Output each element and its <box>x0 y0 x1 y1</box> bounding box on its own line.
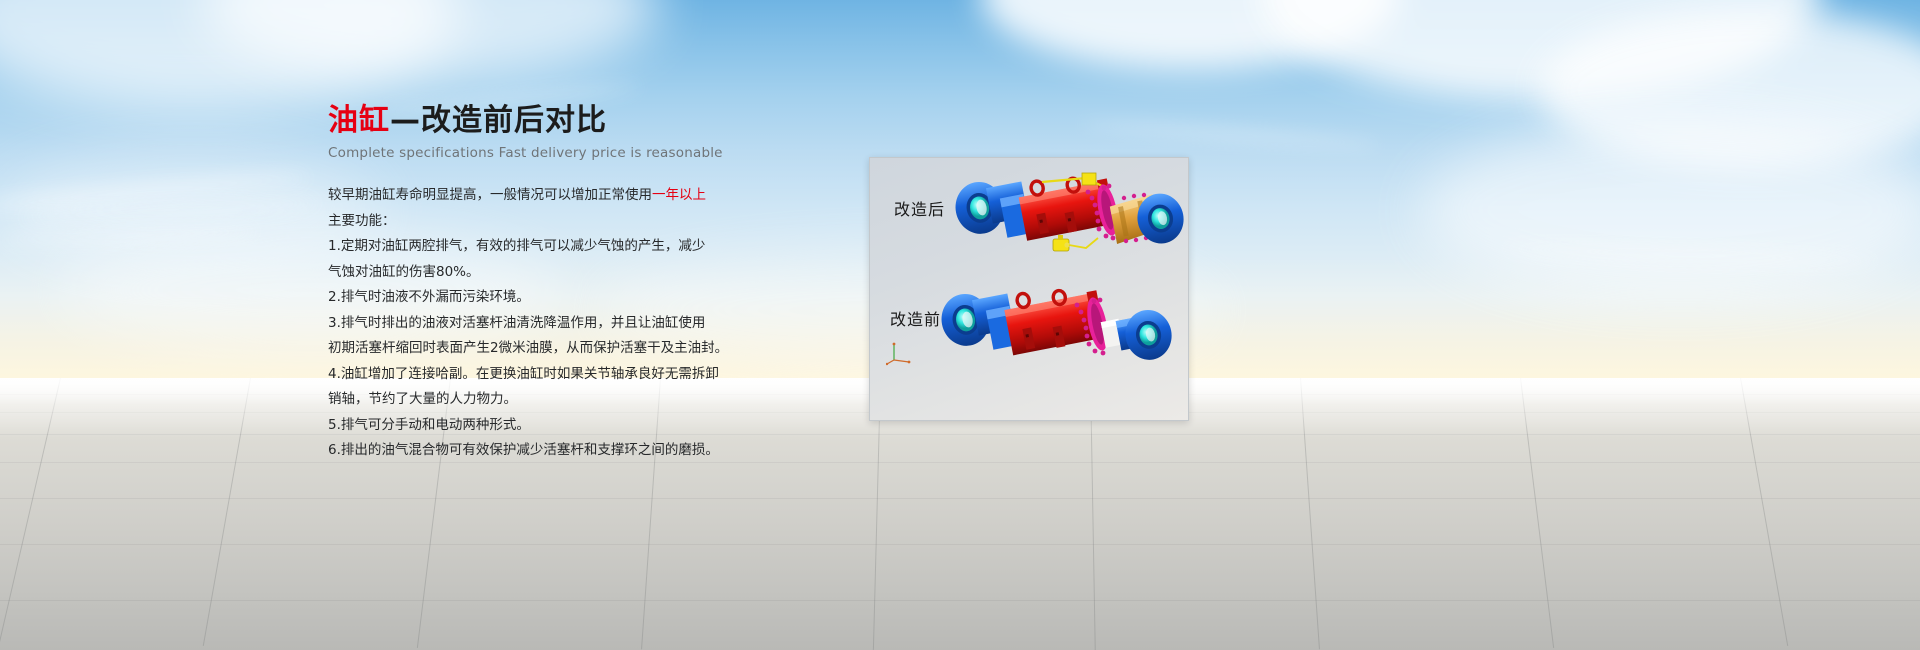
feature-line: 4.油缸增加了连接哈副。在更换油缸时如果关节轴承良好无需拆卸 <box>328 362 848 388</box>
feature-line: 3.排气时排出的油液对活塞杆油清洗降温作用，并且让油缸使用 <box>328 311 848 337</box>
cloud-shape <box>1420 120 1920 300</box>
cylinder-after-render <box>946 168 1186 288</box>
feature-line-text: 6.排出的油气混合物可有效保护减少活塞杆和支撑环之间的磨损。 <box>328 442 719 458</box>
feature-line: 5.排气可分手动和电动两种形式。 <box>328 413 848 439</box>
feature-line-highlight: 一年以上 <box>652 187 706 203</box>
feature-line-text: 较早期油缸寿命明显提高，一般情况可以增加正常使用 <box>328 187 652 203</box>
page-subtitle: Complete specifications Fast delivery pr… <box>328 145 848 161</box>
feature-line-text: 初期活塞杆缩回时表面产生2微米油膜，从而保护活塞干及主油封。 <box>328 340 728 356</box>
feature-line-text: 4.油缸增加了连接哈副。在更换油缸时如果关节轴承良好无需拆卸 <box>328 366 719 382</box>
cad-comparison-panel: 改造后 改造前 <box>869 157 1189 421</box>
feature-list: 较早期油缸寿命明显提高，一般情况可以增加正常使用一年以上 主要功能： 1.定期对… <box>328 183 848 464</box>
feature-line: 气蚀对油缸的伤害80%。 <box>328 260 848 286</box>
feature-line: 2.排气时油液不外漏而污染环境。 <box>328 285 848 311</box>
feature-line: 6.排出的油气混合物可有效保护减少活塞杆和支撑环之间的磨损。 <box>328 438 848 464</box>
feature-line-text: 3.排气时排出的油液对活塞杆油清洗降温作用，并且让油缸使用 <box>328 315 705 331</box>
feature-line: 初期活塞杆缩回时表面产生2微米油膜，从而保护活塞干及主油封。 <box>328 336 848 362</box>
cylinder-before-render <box>934 276 1174 406</box>
feature-line-text: 主要功能： <box>328 213 396 229</box>
cloud-streak <box>1080 120 1380 150</box>
feature-line-text: 1.定期对油缸两腔排气，有效的排气可以减少气蚀的产生，减少 <box>328 238 705 254</box>
page-title: 油缸—改造前后对比 <box>328 104 848 137</box>
feature-line-text: 5.排气可分手动和电动两种形式。 <box>328 417 530 433</box>
page-title-rest: —改造前后对比 <box>390 103 607 138</box>
page-title-highlight: 油缸 <box>328 103 390 138</box>
feature-line: 销轴，节约了大量的人力物力。 <box>328 387 848 413</box>
banner-content: 油缸—改造前后对比 Complete specifications Fast d… <box>328 104 848 464</box>
feature-line-text: 销轴，节约了大量的人力物力。 <box>328 391 517 407</box>
feature-line-text: 2.排气时油液不外漏而污染环境。 <box>328 289 530 305</box>
feature-line: 1.定期对油缸两腔排气，有效的排气可以减少气蚀的产生，减少 <box>328 234 848 260</box>
label-after-modification: 改造后 <box>894 196 945 220</box>
feature-line: 主要功能： <box>328 209 848 235</box>
coordinate-axis-icon <box>886 340 912 366</box>
banner-stage: 油缸—改造前后对比 Complete specifications Fast d… <box>0 0 1920 650</box>
feature-line: 较早期油缸寿命明显提高，一般情况可以增加正常使用一年以上 <box>328 183 848 209</box>
feature-line-text: 气蚀对油缸的伤害80%。 <box>328 264 480 280</box>
